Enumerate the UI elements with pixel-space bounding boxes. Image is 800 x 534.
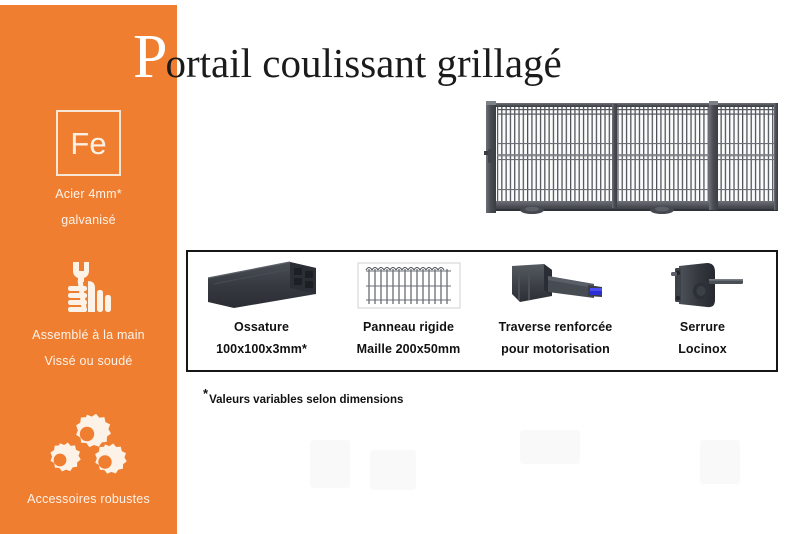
sidebar-item-steel: Fe Acier 4mm* galvanisé: [0, 110, 177, 229]
feature-frame: Ossature 100x100x3mm*: [188, 252, 335, 370]
gears-icon: [0, 413, 177, 483]
fe-symbol-label: Fe: [70, 128, 106, 159]
sliding-mesh-gate-illustration: [484, 97, 784, 223]
feature-frame-line1: Ossature: [234, 320, 289, 334]
product-infographic: Fe Acier 4mm* galvanisé: [0, 0, 800, 534]
hand-holding-wrench-icon: [0, 257, 177, 319]
features-box: Ossature 100x100x3mm*: [186, 250, 778, 372]
page-title-text: ortail coulissant grillagé: [165, 43, 561, 84]
sidebar-item-steel-line1: Acier 4mm*: [0, 186, 177, 203]
watermark-shape: [310, 440, 350, 488]
rigid-mesh-panel-icon: [357, 258, 461, 314]
sidebar-item-steel-line2: galvanisé: [0, 212, 177, 229]
sidebar-item-accessories: Accessoires robustes: [0, 413, 177, 508]
feature-lock-line2: Locinox: [678, 342, 727, 356]
feature-crossbar-line2: pour motorisation: [501, 342, 610, 356]
watermark-shape: [370, 450, 416, 490]
lock-icon: [657, 258, 749, 314]
sidebar-item-accessories-line1: Accessoires robustes: [0, 491, 177, 508]
footnote: *Valeurs variables selon dimensions: [203, 386, 403, 406]
sidebar-item-assembly-line2: Vissé ou soudé: [0, 353, 177, 370]
sidebar-item-assembly: Assemblé à la main Vissé ou soudé: [0, 257, 177, 370]
feature-crossbar-line1: Traverse renforcée: [499, 320, 613, 334]
feature-crossbar: Traverse renforcée pour motorisation: [482, 252, 629, 370]
fe-element-box-icon: Fe: [56, 110, 121, 176]
feature-lock-line1: Serrure: [680, 320, 725, 334]
feature-panel-line1: Panneau rigide: [363, 320, 454, 334]
footnote-star: *: [203, 386, 208, 401]
footnote-text: Valeurs variables selon dimensions: [209, 394, 403, 406]
feature-frame-line2: 100x100x3mm*: [216, 342, 307, 356]
reinforced-crossbar-icon: [498, 258, 614, 314]
watermark-shape: [700, 440, 740, 484]
sidebar-item-assembly-line1: Assemblé à la main: [0, 327, 177, 344]
feature-panel-line2: Maille 200x50mm: [357, 342, 461, 356]
feature-lock: Serrure Locinox: [629, 252, 776, 370]
page-title: Portail coulissant grillagé: [133, 26, 562, 86]
page-title-initial: P: [133, 26, 167, 88]
watermark-shape: [520, 430, 580, 464]
steel-frame-profile-icon: [204, 258, 320, 314]
feature-panel: Panneau rigide Maille 200x50mm: [335, 252, 482, 370]
